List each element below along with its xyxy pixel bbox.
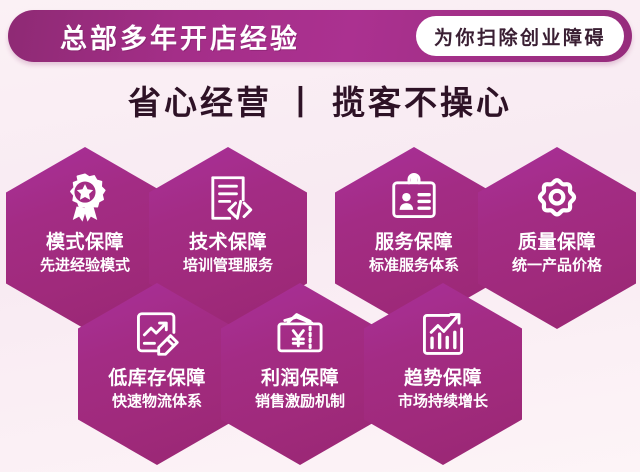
document-code-icon bbox=[201, 171, 255, 225]
hex-subtitle: 培训管理服务 bbox=[183, 258, 273, 275]
feature-hex-grid: 模式保障 先进经验模式 技术保障 培训管理服务 bbox=[0, 0, 640, 472]
hex-subtitle: 快速物流体系 bbox=[112, 394, 202, 411]
hex-title: 质量保障 bbox=[518, 233, 596, 254]
hex-subtitle: 先进经验模式 bbox=[40, 258, 130, 275]
hex-title: 趋势保障 bbox=[404, 369, 482, 390]
id-card-lock-icon bbox=[387, 171, 441, 225]
hex-card-4[interactable]: 质量保障 统一产品价格 bbox=[478, 147, 636, 329]
money-ticket-yen-icon bbox=[273, 307, 327, 361]
banner-pill-badge: 为你扫除创业障碍 bbox=[416, 16, 624, 56]
hex-subtitle: 销售激励机制 bbox=[255, 394, 345, 411]
hex-title: 模式保障 bbox=[46, 233, 124, 254]
header-banner: 总部多年开店经验 为你扫除创业障碍 bbox=[8, 10, 632, 62]
hex-subtitle: 标准服务体系 bbox=[369, 258, 459, 275]
page-title: 省心经营丨揽客不操心 bbox=[0, 76, 640, 124]
banner-pill-label: 为你扫除创业障碍 bbox=[434, 23, 606, 50]
headline-separator: 丨 bbox=[284, 76, 320, 124]
hex-title: 低库存保障 bbox=[108, 369, 206, 390]
badge-star-icon bbox=[58, 171, 112, 225]
headline-left: 省心经营 bbox=[128, 86, 272, 122]
banner-title: 总部多年开店经验 bbox=[60, 17, 300, 56]
hex-title: 服务保障 bbox=[375, 233, 453, 254]
gear-icon bbox=[530, 171, 584, 225]
headline-right: 揽客不操心 bbox=[332, 86, 512, 122]
hex-subtitle: 统一产品价格 bbox=[512, 258, 602, 275]
hex-title: 利润保障 bbox=[261, 369, 339, 390]
hex-title: 技术保障 bbox=[189, 233, 267, 254]
growth-chart-icon bbox=[416, 307, 470, 361]
chart-pencil-icon bbox=[130, 307, 184, 361]
hex-subtitle: 市场持续增长 bbox=[398, 394, 488, 411]
